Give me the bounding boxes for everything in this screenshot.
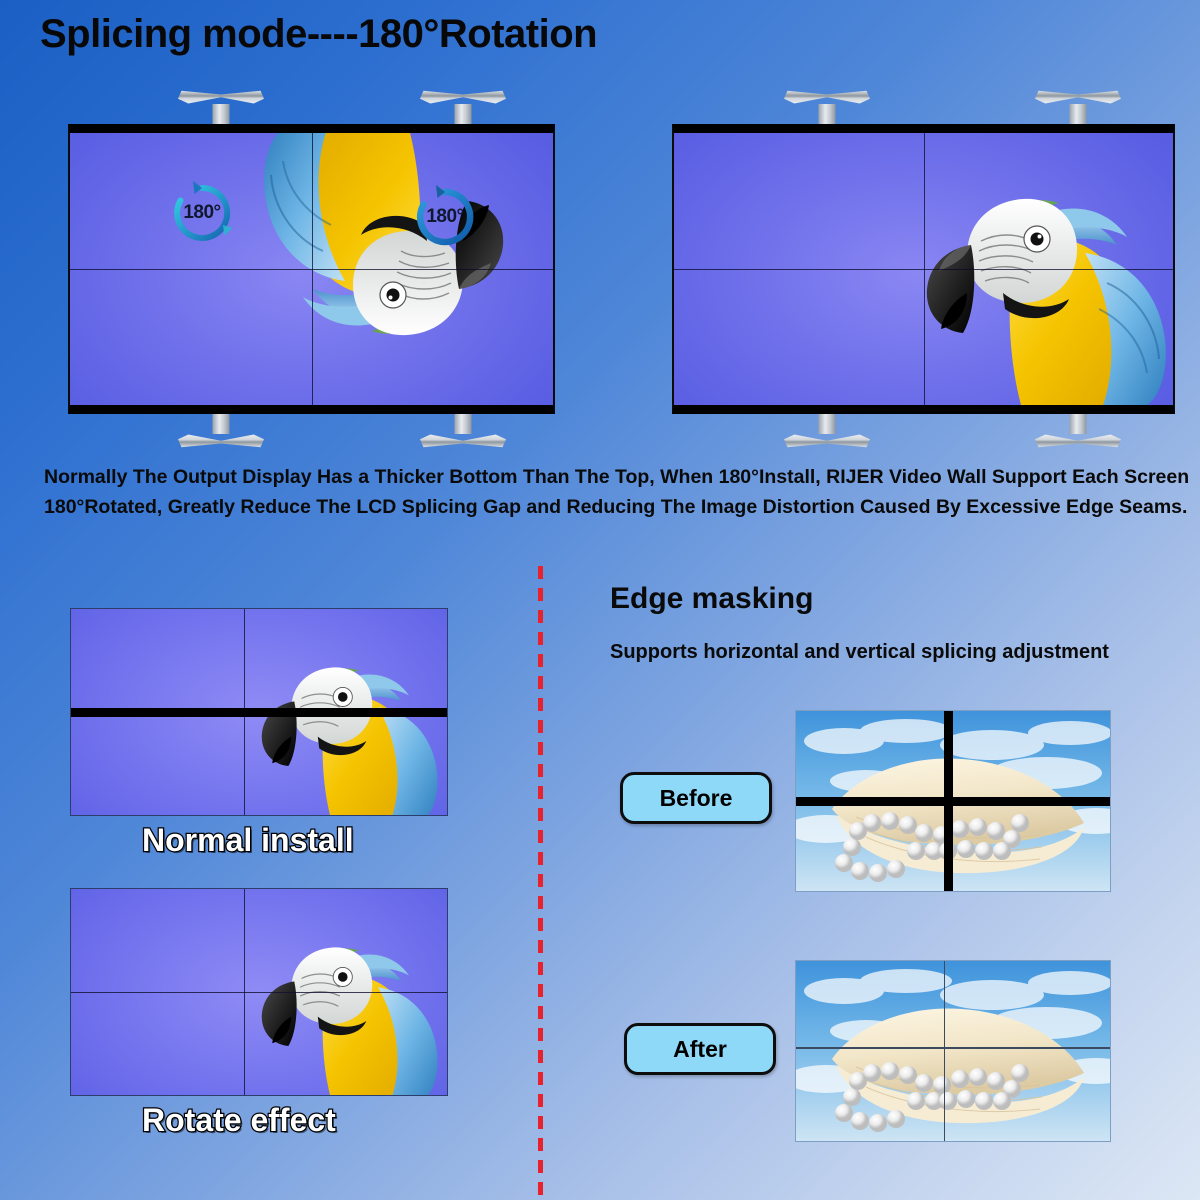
stand-neck — [1070, 414, 1087, 434]
monitor-stand-bottom-left — [178, 414, 264, 448]
wall-screens-normal — [672, 124, 1175, 414]
stand-neck — [455, 414, 472, 434]
panel-screens-normal-install — [70, 608, 448, 816]
rotation-180-badge-label-secondary: 180° — [413, 185, 477, 249]
caption-rotate-effect: Rotate effect — [142, 1102, 336, 1139]
stand-neck — [819, 414, 836, 434]
edge-masking-before-preview — [795, 710, 1111, 892]
monitor-stand-top-left — [178, 90, 264, 124]
stand-base — [178, 90, 264, 105]
rotation-180-badge-icon-secondary: 180° — [413, 185, 477, 249]
before-button[interactable]: Before — [620, 772, 772, 824]
edge-masking-after-preview — [795, 960, 1111, 1142]
video-wall-normal — [672, 124, 1175, 414]
stand-neck — [213, 104, 230, 124]
screen-seam-horizontal — [71, 992, 447, 993]
stand-base — [1035, 90, 1121, 105]
wall-screens-rotated: 180° 180° — [68, 124, 555, 414]
splice-gap-vertical-thin — [944, 961, 946, 1141]
stand-neck — [455, 104, 472, 124]
stand-neck — [213, 414, 230, 434]
shell-pearls-image — [796, 961, 1111, 1142]
after-button[interactable]: After — [624, 1023, 776, 1075]
screen-seam-horizontal — [674, 269, 1173, 270]
stand-neck — [1070, 104, 1087, 124]
splice-gap-horizontal-thin — [796, 1047, 1110, 1049]
panel-rotate-effect: Rotate effect — [70, 888, 448, 1096]
section-divider — [538, 566, 543, 1196]
panel-screens-rotate-effect — [70, 888, 448, 1096]
caption-normal-install: Normal install — [142, 822, 354, 859]
stand-base — [178, 433, 264, 448]
stand-base — [784, 90, 870, 105]
stand-base — [420, 90, 506, 105]
screen-seam-horizontal — [70, 269, 553, 270]
monitor-stand-bottom-right — [420, 414, 506, 448]
monitor-stand-bottom-right — [1035, 414, 1121, 448]
screen-seam-thick-horizontal — [71, 708, 447, 717]
splice-gap-horizontal-thick — [796, 797, 1110, 806]
video-wall-rotated: 180° 180° — [68, 124, 555, 414]
description-paragraph: Normally The Output Display Has a Thicke… — [44, 462, 1194, 522]
page-title: Splicing mode----180°Rotation — [40, 12, 597, 57]
edge-masking-subtitle: Supports horizontal and vertical splicin… — [610, 641, 1109, 664]
monitor-stand-bottom-left — [784, 414, 870, 448]
rotation-180-badge-label: 180° — [170, 181, 234, 245]
monitor-stand-top-right — [420, 90, 506, 124]
stand-base — [1035, 433, 1121, 448]
stand-base — [420, 433, 506, 448]
rotation-180-badge-icon: 180° — [170, 181, 234, 245]
stand-base — [784, 433, 870, 448]
monitor-stand-top-left — [784, 90, 870, 124]
edge-masking-title: Edge masking — [610, 582, 813, 616]
stand-neck — [819, 104, 836, 124]
monitor-stand-top-right — [1035, 90, 1121, 124]
panel-normal-install: Normal install — [70, 608, 448, 816]
